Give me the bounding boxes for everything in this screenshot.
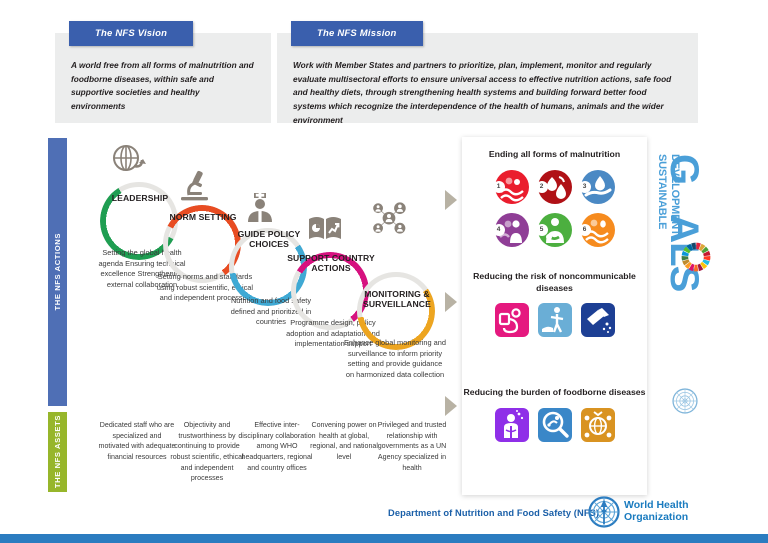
sdg-number-badge: 5: [536, 224, 548, 236]
sdg-group-heading-2: Reducing the risk of noncommunicable dis…: [462, 271, 647, 294]
vision-tab-label: The NFS Vision: [69, 21, 193, 46]
zero-hunger-icon[interactable]: 2: [538, 170, 572, 204]
sidebar-label-actions-text: THE NFS ACTIONS: [53, 233, 62, 310]
sdg-number-badge: 2: [536, 181, 548, 193]
health-worker-icon: [240, 186, 280, 226]
blood-pressure-icon-glyph: [495, 303, 529, 337]
globe-arrow-icon: [108, 140, 148, 180]
action-title-1: LEADERSHIP: [94, 193, 186, 203]
sdg-logo: GOALS SUSTAINABLE DEVELOPMENT: [648, 150, 724, 418]
asset-item-1: Dedicated staff who are specialized and …: [98, 420, 176, 463]
un-emblem-icon: [672, 388, 698, 414]
action-title-5: MONITORING & SURVEILLANCE: [351, 289, 443, 310]
sdg-group-heading-3: Reducing the burden of foodborne disease…: [462, 387, 647, 399]
mission-statement-box: The NFS Mission Work with Member States …: [277, 33, 698, 123]
action-description-5: Enhance global monitoring and surveillan…: [343, 338, 447, 381]
asset-item-4: Convening power on health at global, reg…: [305, 420, 383, 463]
mission-tab-label: The NFS Mission: [291, 21, 423, 46]
who-name-line1: World Health: [624, 499, 689, 511]
chevron-right-icon-1: [445, 190, 457, 210]
chevron-right-icon-2: [445, 292, 457, 312]
sdg-number-badge: 6: [579, 224, 591, 236]
sidebar-label-assets: THE NFS ASSETS: [48, 412, 67, 492]
sdg-number-badge: 4: [493, 224, 505, 236]
vision-statement-text: A world free from all forms of malnutrit…: [55, 33, 271, 126]
sdg-icon-row: 456: [462, 213, 647, 247]
salt-shaker-icon-glyph: [581, 303, 615, 337]
action-title-2: NORM SETTING: [157, 212, 249, 222]
magnifier-pathogen-icon[interactable]: [538, 408, 572, 442]
action-title-4: SUPPORT COUNTRY ACTIONS: [285, 253, 377, 274]
sdg-group-3: Reducing the burden of foodborne disease…: [462, 387, 647, 442]
microscope-icon: [175, 165, 215, 205]
sdg-colour-wheel-icon: [681, 242, 711, 272]
sdg-number-badge: 1: [493, 181, 505, 193]
physical-activity-icon-glyph: [538, 303, 572, 337]
sdg-number-badge: 3: [579, 181, 591, 193]
sick-person-icon-glyph: [495, 408, 529, 442]
sdg-icon-row: [462, 303, 647, 337]
good-health-icon[interactable]: 3: [581, 170, 615, 204]
breastfeeding-icon[interactable]: 5: [538, 213, 572, 247]
infographic-canvas: The NFS Vision A world free from all for…: [0, 0, 768, 543]
sdg-icon-row: 123: [462, 170, 647, 204]
magnifier-pathogen-icon-glyph: [538, 408, 572, 442]
who-organization-name: World Health Organization: [624, 499, 689, 524]
footer-accent-bar: [0, 534, 768, 543]
blood-pressure-icon[interactable]: [495, 303, 529, 337]
footer-department-text: Department of Nutrition and Food Safety …: [388, 508, 599, 518]
salt-shaker-icon[interactable]: [581, 303, 615, 337]
no-poverty-icon[interactable]: 1: [495, 170, 529, 204]
clean-water-icon[interactable]: 6: [581, 213, 615, 247]
sdg-sustainable-text: SUSTAINABLE: [656, 154, 668, 229]
sidebar-label-actions: THE NFS ACTIONS: [48, 138, 67, 406]
sick-person-icon[interactable]: [495, 408, 529, 442]
sdg-development-text: DEVELOPMENT: [669, 154, 681, 236]
food-chain-globe-icon[interactable]: [581, 408, 615, 442]
network-people-icon: [369, 200, 409, 240]
physical-activity-icon[interactable]: [538, 303, 572, 337]
asset-item-2: Objectivity and trustworthiness by conti…: [168, 420, 246, 484]
sdg-icon-row: [462, 408, 647, 442]
vision-statement-box: The NFS Vision A world free from all for…: [55, 33, 271, 123]
chevron-right-icon-3: [445, 396, 457, 416]
mission-statement-text: Work with Member States and partners to …: [277, 33, 698, 139]
sdg-group-2: Reducing the risk of noncommunicable dis…: [462, 271, 647, 337]
who-name-line2: Organization: [624, 511, 689, 523]
sidebar-label-assets-text: THE NFS ASSETS: [53, 415, 62, 488]
quality-education-icon[interactable]: 4: [495, 213, 529, 247]
food-chain-globe-icon-glyph: [581, 408, 615, 442]
sdg-group-heading-1: Ending all forms of malnutrition: [462, 149, 647, 161]
sdg-group-1: Ending all forms of malnutrition123456: [462, 149, 647, 247]
open-book-chart-icon: [305, 209, 345, 249]
sdg-outcomes-panel: Ending all forms of malnutrition123456Re…: [462, 137, 647, 495]
asset-item-5: Privileged and trusted relationship with…: [373, 420, 451, 473]
action-title-3: GUIDE POLICY CHOICES: [223, 229, 315, 250]
